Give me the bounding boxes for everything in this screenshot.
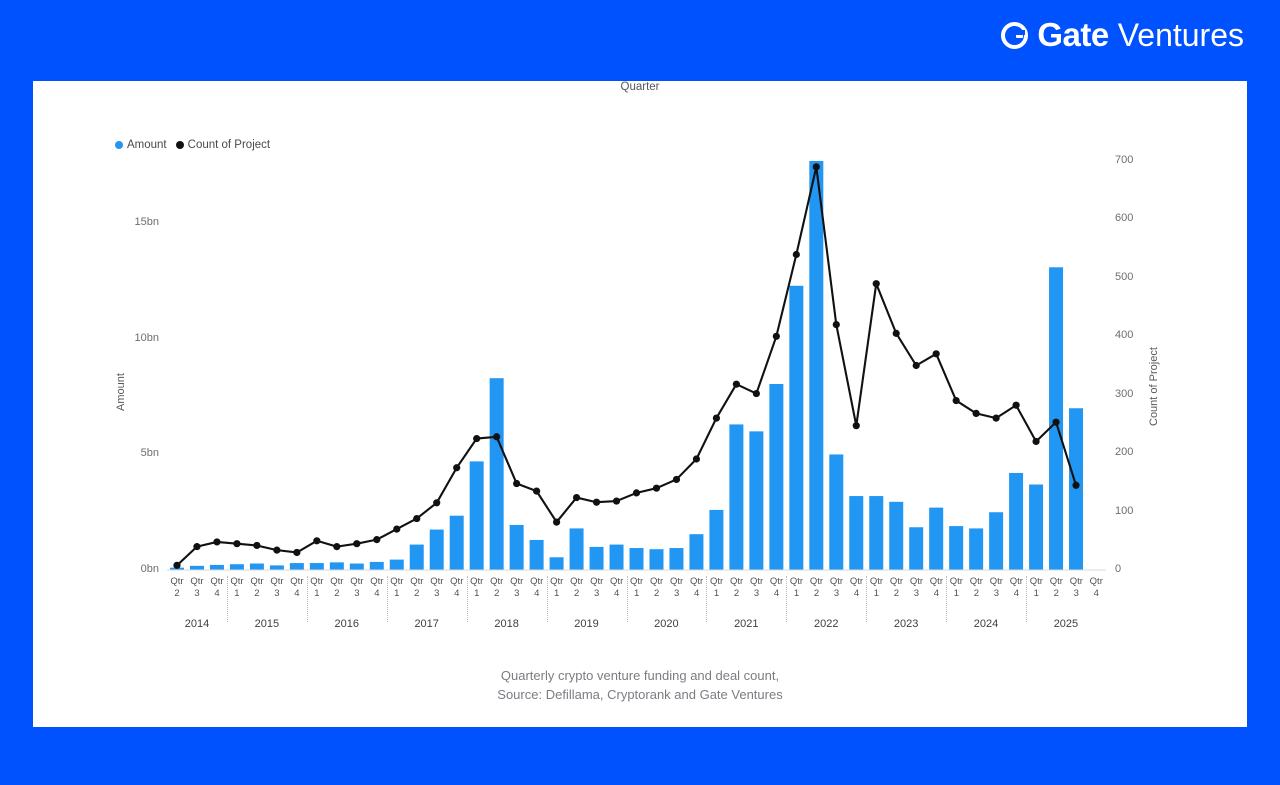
- year-separator: [547, 576, 548, 622]
- bar: [430, 530, 444, 570]
- chart-legend: Amount Count of Project: [115, 139, 270, 151]
- y-axis-left-tick: 15bn: [119, 216, 159, 228]
- bar: [909, 527, 923, 570]
- y-axis-right-tick: 400: [1115, 329, 1155, 341]
- line-point: [413, 515, 420, 522]
- bar: [929, 508, 943, 570]
- x-axis-year-label: 2015: [227, 618, 307, 638]
- line-point: [913, 362, 920, 369]
- line-point: [693, 455, 700, 462]
- line-point: [453, 464, 460, 471]
- bar: [869, 496, 883, 570]
- x-axis-year-label: 2025: [1026, 618, 1106, 638]
- bar: [450, 516, 464, 570]
- line-point: [213, 538, 220, 545]
- x-axis-quarter-tick: Qtr4: [767, 576, 787, 618]
- line-point: [953, 397, 960, 404]
- year-separator: [946, 576, 947, 622]
- x-axis-year-label: 2024: [946, 618, 1026, 638]
- bar: [230, 564, 244, 570]
- line-point: [833, 321, 840, 328]
- bar: [330, 562, 344, 570]
- bar: [210, 565, 224, 570]
- line-point: [773, 333, 780, 340]
- line-point: [933, 350, 940, 357]
- x-axis-quarter-tick: Qtr3: [347, 576, 367, 618]
- line-point: [533, 488, 540, 495]
- bar: [749, 431, 763, 570]
- bar: [310, 563, 324, 570]
- bar: [630, 548, 644, 570]
- bar: [829, 454, 843, 570]
- x-axis-year-label: 2014: [167, 618, 227, 638]
- line-point: [273, 547, 280, 554]
- x-axis-year-label: 2017: [387, 618, 467, 638]
- year-separator: [1026, 576, 1027, 622]
- x-axis-year-labels: 2014201520162017201820192020202120222023…: [167, 618, 1106, 638]
- bar: [769, 384, 783, 570]
- x-axis-quarter-tick: Qtr1: [307, 576, 327, 618]
- x-axis-quarter-tick: Qtr3: [587, 576, 607, 618]
- x-axis-quarter-labels: Qtr2Qtr3Qtr4Qtr1Qtr2Qtr3Qtr4Qtr1Qtr2Qtr3…: [167, 576, 1106, 618]
- x-axis-quarter-tick: Qtr1: [707, 576, 727, 618]
- y-axis-left-tick: 0bn: [119, 563, 159, 575]
- y-axis-left-tick: 5bn: [119, 447, 159, 459]
- year-separator: [227, 576, 228, 622]
- x-axis-quarter-tick: Qtr1: [387, 576, 407, 618]
- line-point: [253, 542, 260, 549]
- bar: [370, 562, 384, 570]
- bar: [290, 563, 304, 570]
- line-point: [473, 435, 480, 442]
- bar: [709, 510, 723, 570]
- x-axis-quarter-tick: Qtr2: [407, 576, 427, 618]
- x-axis-quarter-tick: Qtr1: [787, 576, 807, 618]
- x-axis-quarter-tick: Qtr3: [906, 576, 926, 618]
- bar: [530, 540, 544, 570]
- line-point: [593, 499, 600, 506]
- bar: [969, 528, 983, 570]
- bar: [570, 528, 584, 570]
- count-of-project-line: [177, 167, 1076, 565]
- y-axis-right-tick: 200: [1115, 446, 1155, 458]
- x-axis-quarter-tick: Qtr1: [1026, 576, 1046, 618]
- x-axis-quarter-tick: Qtr3: [267, 576, 287, 618]
- legend-marker-amount: [115, 141, 123, 149]
- bar: [669, 548, 683, 570]
- x-axis-quarter-tick: Qtr2: [567, 576, 587, 618]
- x-axis-quarter-tick: Qtr1: [866, 576, 886, 618]
- legend-item-amount: Amount: [115, 139, 167, 151]
- line-point: [573, 494, 580, 501]
- x-axis-quarter-tick: Qtr3: [507, 576, 527, 618]
- y-axis-right-tick: 700: [1115, 154, 1155, 166]
- x-axis-quarter-tick: Qtr2: [1046, 576, 1066, 618]
- x-axis-quarter-tick: Qtr4: [687, 576, 707, 618]
- y-axis-right-tick: 100: [1115, 505, 1155, 517]
- y-axis-right-title: Count of Project: [1148, 347, 1160, 426]
- line-point: [373, 536, 380, 543]
- year-separator: [387, 576, 388, 622]
- x-axis-year-label: 2023: [866, 618, 946, 638]
- x-axis-quarter-tick: Qtr3: [427, 576, 447, 618]
- x-axis-quarter-tick: Qtr4: [1006, 576, 1026, 618]
- bar: [849, 496, 863, 570]
- x-axis-quarter-tick: Qtr3: [986, 576, 1006, 618]
- line-point: [633, 489, 640, 496]
- line-point: [353, 540, 360, 547]
- x-axis-quarter-tick: Qtr1: [467, 576, 487, 618]
- bar: [949, 526, 963, 570]
- line-point: [853, 422, 860, 429]
- line-point: [233, 540, 240, 547]
- x-axis-title: Quarter: [33, 81, 1247, 93]
- x-axis-year-label: 2019: [547, 618, 627, 638]
- bar: [350, 564, 364, 570]
- line-point: [393, 526, 400, 533]
- x-axis-quarter-tick: Qtr1: [547, 576, 567, 618]
- bar: [1029, 485, 1043, 571]
- line-point: [653, 485, 660, 492]
- y-axis-right-tick: 600: [1115, 212, 1155, 224]
- bar: [490, 378, 504, 570]
- bar: [610, 545, 624, 570]
- x-axis-quarter-tick: Qtr4: [527, 576, 547, 618]
- y-axis-right-tick: 300: [1115, 388, 1155, 400]
- bar: [1009, 473, 1023, 570]
- line-point: [993, 414, 1000, 421]
- y-axis-left-title: Amount: [115, 373, 127, 411]
- legend-item-count: Count of Project: [176, 139, 270, 151]
- x-axis-quarter-tick: Qtr4: [607, 576, 627, 618]
- year-separator: [786, 576, 787, 622]
- x-axis-quarter-tick: Qtr4: [1086, 576, 1106, 618]
- bar: [989, 512, 1003, 570]
- chart-card: Amount Count of Project Amount Count of …: [33, 81, 1247, 727]
- bar: [729, 424, 743, 570]
- line-point: [1072, 482, 1079, 489]
- x-axis-quarter-tick: Qtr3: [667, 576, 687, 618]
- x-axis-quarter-tick: Qtr4: [287, 576, 307, 618]
- line-point: [1013, 402, 1020, 409]
- x-axis-quarter-tick: Qtr3: [826, 576, 846, 618]
- bar: [190, 566, 204, 570]
- x-axis-quarter-tick: Qtr4: [846, 576, 866, 618]
- x-axis-year-label: 2018: [467, 618, 547, 638]
- x-axis-quarter-tick: Qtr2: [167, 576, 187, 618]
- line-point: [793, 251, 800, 258]
- x-axis-quarter-tick: Qtr3: [1066, 576, 1086, 618]
- brand-logo: Gate Ventures: [1001, 18, 1244, 51]
- bar: [390, 560, 404, 570]
- line-point: [873, 280, 880, 287]
- y-axis-left-tick: 10bn: [119, 332, 159, 344]
- caption-line-1: Quarterly crypto venture funding and dea…: [33, 666, 1247, 685]
- line-point: [813, 163, 820, 170]
- legend-marker-count: [176, 141, 184, 149]
- caption-line-2: Source: Defillama, Cryptorank and Gate V…: [33, 685, 1247, 704]
- x-axis-quarter-tick: Qtr4: [926, 576, 946, 618]
- year-separator: [627, 576, 628, 622]
- year-separator: [307, 576, 308, 622]
- y-axis-right-tick: 500: [1115, 271, 1155, 283]
- x-axis-quarter-tick: Qtr2: [807, 576, 827, 618]
- bar: [590, 547, 604, 570]
- x-axis-year-label: 2020: [626, 618, 706, 638]
- bar: [250, 564, 264, 570]
- x-axis-quarter-tick: Qtr2: [647, 576, 667, 618]
- line-point: [333, 543, 340, 550]
- x-axis-quarter-tick: Qtr2: [886, 576, 906, 618]
- bar: [510, 525, 524, 570]
- line-point: [173, 562, 180, 569]
- brand-suffix: Ventures: [1118, 19, 1244, 51]
- line-point: [493, 433, 500, 440]
- year-separator: [467, 576, 468, 622]
- line-point: [1052, 419, 1059, 426]
- chart-svg: [167, 161, 1106, 570]
- year-separator: [706, 576, 707, 622]
- x-axis-quarter-tick: Qtr2: [966, 576, 986, 618]
- bar: [789, 286, 803, 570]
- line-point: [613, 497, 620, 504]
- bar: [270, 565, 284, 570]
- gate-logo-icon: [1001, 22, 1028, 49]
- legend-label-amount: Amount: [127, 139, 167, 151]
- chart-caption: Quarterly crypto venture funding and dea…: [33, 666, 1247, 704]
- line-point: [733, 381, 740, 388]
- x-axis-year-label: 2016: [307, 618, 387, 638]
- line-point: [313, 537, 320, 544]
- brand-name: Gate: [1037, 18, 1108, 51]
- line-point: [673, 476, 680, 483]
- x-axis-quarter-tick: Qtr4: [207, 576, 227, 618]
- line-point: [513, 480, 520, 487]
- x-axis-quarter-tick: Qtr1: [946, 576, 966, 618]
- line-point: [193, 543, 200, 550]
- line-point: [1032, 438, 1039, 445]
- y-axis-right-tick: 0: [1115, 563, 1155, 575]
- x-axis-quarter-tick: Qtr2: [487, 576, 507, 618]
- bar: [1069, 408, 1083, 570]
- line-point: [293, 549, 300, 556]
- bar: [689, 534, 703, 570]
- x-axis-quarter-tick: Qtr1: [627, 576, 647, 618]
- x-axis-quarter-tick: Qtr4: [367, 576, 387, 618]
- x-axis-quarter-tick: Qtr2: [327, 576, 347, 618]
- x-axis-quarter-tick: Qtr2: [247, 576, 267, 618]
- line-point: [553, 518, 560, 525]
- x-axis-year-label: 2021: [706, 618, 786, 638]
- year-separator: [866, 576, 867, 622]
- bar: [410, 545, 424, 570]
- line-point: [893, 330, 900, 337]
- bar: [470, 461, 484, 570]
- bar: [550, 557, 564, 570]
- plot-area: [167, 161, 1106, 570]
- bar: [889, 502, 903, 570]
- line-point: [433, 499, 440, 506]
- bar: [809, 161, 823, 570]
- x-axis-quarter-tick: Qtr1: [227, 576, 247, 618]
- x-axis-quarter-tick: Qtr3: [187, 576, 207, 618]
- x-axis-quarter-tick: Qtr4: [447, 576, 467, 618]
- line-point: [713, 414, 720, 421]
- legend-label-count: Count of Project: [188, 139, 270, 151]
- bar: [649, 549, 663, 570]
- x-axis-year-label: 2022: [786, 618, 866, 638]
- x-axis-quarter-tick: Qtr2: [727, 576, 747, 618]
- line-point: [973, 410, 980, 417]
- line-point: [753, 390, 760, 397]
- x-axis-quarter-tick: Qtr3: [747, 576, 767, 618]
